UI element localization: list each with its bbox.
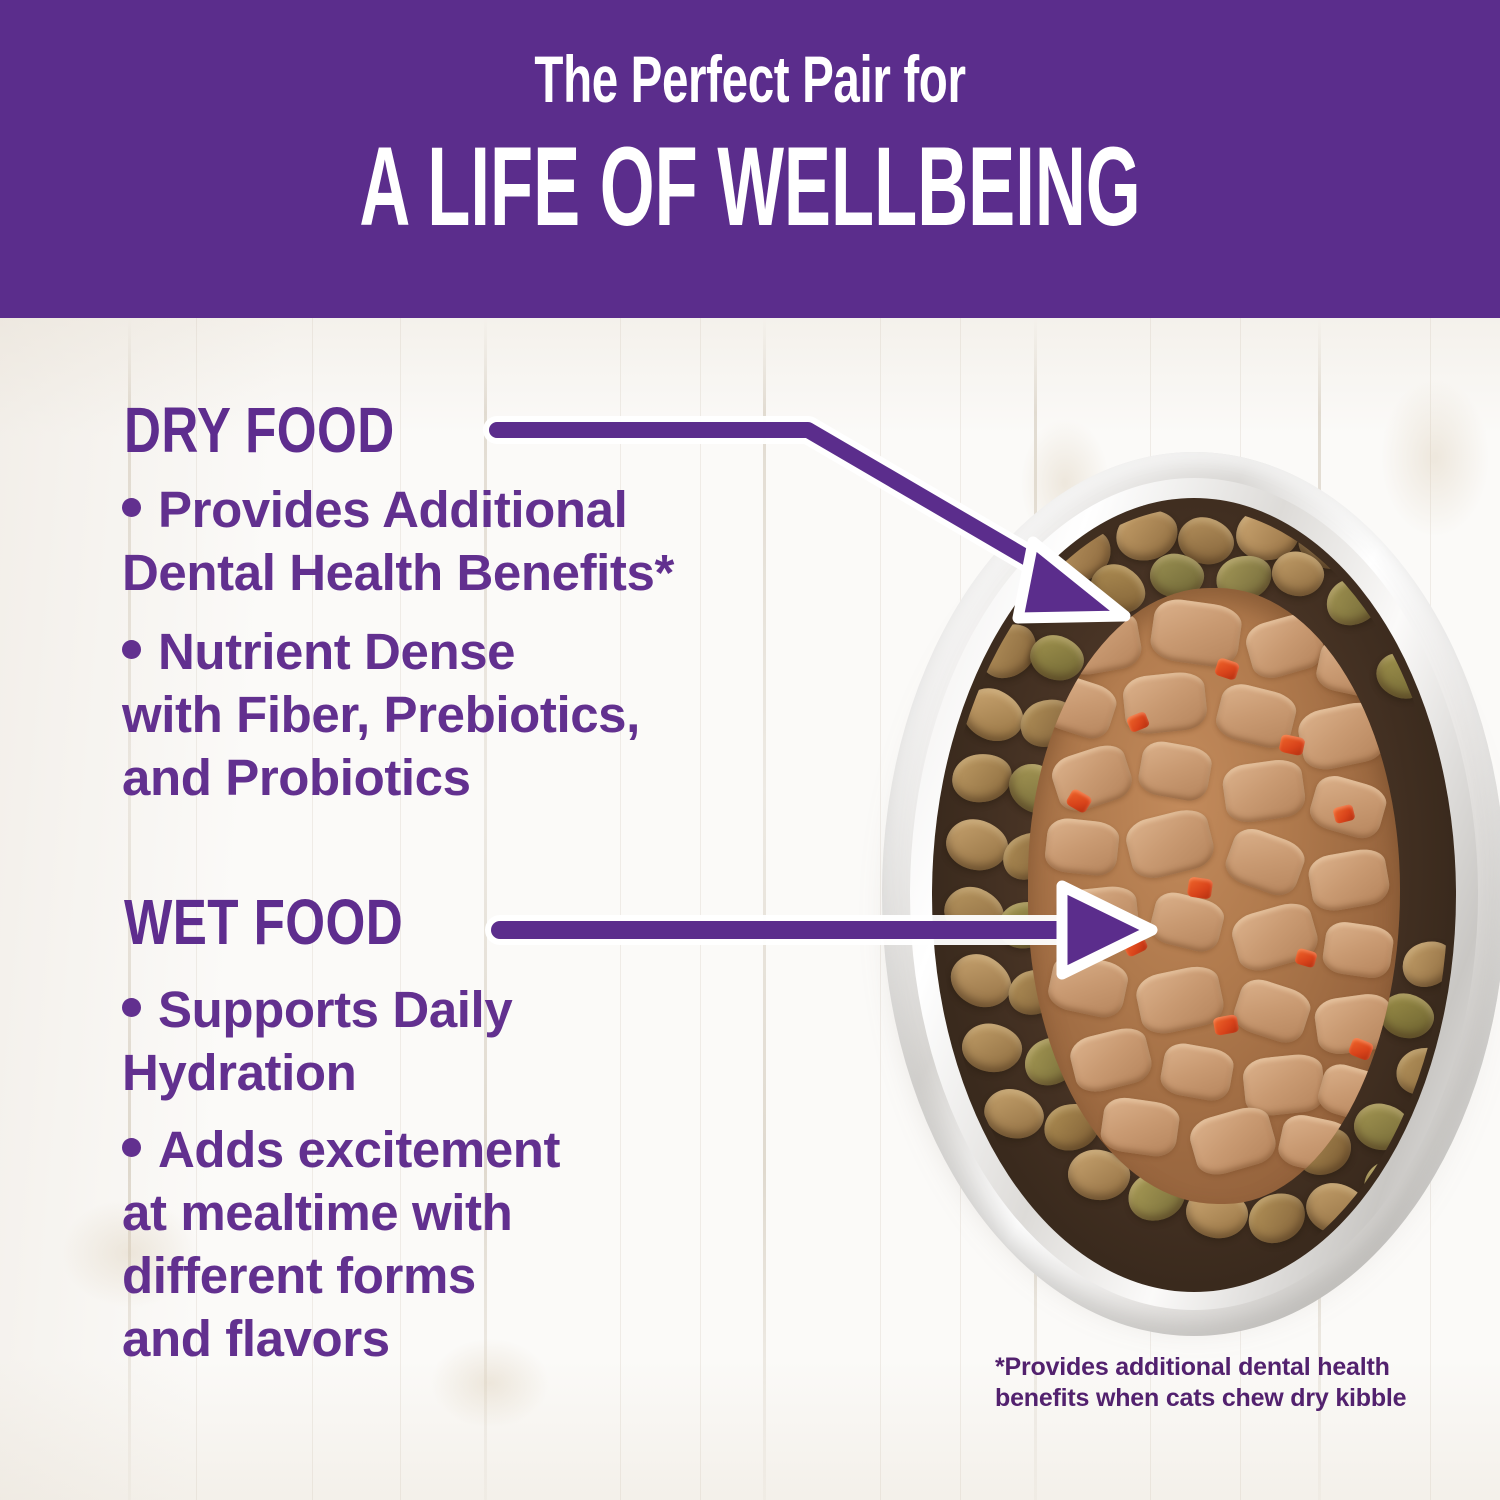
bullet-dry-2-line-1: Nutrient Dense (158, 623, 515, 680)
bullet-wet-1: Supports DailyHydration (122, 978, 802, 1104)
bullet-dot-icon (122, 498, 141, 517)
footnote-line-1: *Provides additional dental health (995, 1352, 1435, 1383)
wet-food-gravy (1028, 588, 1400, 1204)
bullet-dot-icon (122, 640, 141, 659)
footnote-line-2: benefits when cats chew dry kibble (995, 1383, 1435, 1414)
bullet-dry-2-line-3: and Probiotics (122, 749, 471, 806)
bullet-wet-2-line-1: Adds excitement (158, 1121, 560, 1178)
bullet-dry-1-line-2: Dental Health Benefits* (122, 544, 674, 601)
bullet-wet-2-line-3: different forms (122, 1247, 476, 1304)
section-title-dry-food: DRY FOOD (124, 398, 395, 462)
bullet-dry-2: Nutrient Densewith Fiber, Prebiotics,and… (122, 620, 802, 809)
promotional-infographic: The Perfect Pair for A LIFE OF WELLBEING (0, 0, 1500, 1500)
section-title-wet-food: WET FOOD (124, 890, 403, 954)
footnote: *Provides additional dental health benef… (995, 1352, 1435, 1414)
bullet-dot-icon (122, 1138, 141, 1157)
bullet-dry-2-line-2: with Fiber, Prebiotics, (122, 686, 640, 743)
cat-food-bowl-photo (876, 452, 1500, 1342)
bullet-dot-icon (122, 998, 141, 1017)
page-title: A LIFE OF WELLBEING (278, 128, 1223, 246)
bullet-wet-1-line-1: Supports Daily (158, 981, 512, 1038)
bullet-wet-2-line-2: at mealtime with (122, 1184, 512, 1241)
header-banner: The Perfect Pair for A LIFE OF WELLBEING (0, 0, 1500, 318)
bullet-wet-2: Adds excitementat mealtime withdifferent… (122, 1118, 802, 1370)
benefits-column: DRY FOOD Provides AdditionalDental Healt… (0, 318, 860, 1500)
bullet-dry-1-line-1: Provides Additional (158, 481, 627, 538)
bullet-wet-2-line-4: and flavors (122, 1310, 390, 1367)
bullet-dry-1: Provides AdditionalDental Health Benefit… (122, 478, 802, 604)
header-eyebrow: The Perfect Pair for (210, 44, 1290, 114)
bullet-wet-1-line-2: Hydration (122, 1044, 356, 1101)
